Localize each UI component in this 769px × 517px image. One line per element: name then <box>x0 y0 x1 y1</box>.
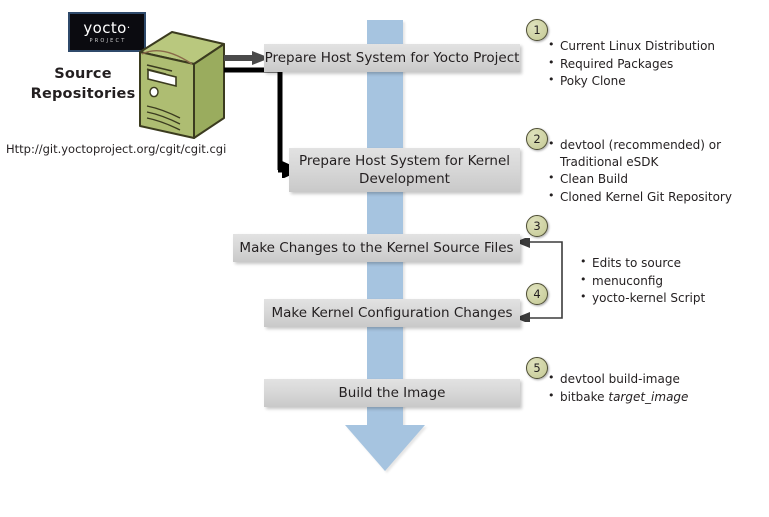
step2-bullet-list: devtool (recommended) or Traditional eSD… <box>548 137 763 206</box>
source-label-line-2: Repositories <box>20 84 146 104</box>
logo-word-text: yocto <box>83 19 126 37</box>
connector-bracket-step3-step4 <box>516 238 586 322</box>
step3-step4-bullet-list: Edits to source menuconfig yocto-kernel … <box>580 255 760 308</box>
step-box-1[interactable]: Prepare Host System for Yocto Project <box>264 44 520 72</box>
list-item: devtool build-image <box>548 371 748 388</box>
step1-bullet-list: Current Linux Distribution Required Pack… <box>548 38 758 91</box>
flow-arrow-head <box>345 425 425 471</box>
list-item: yocto-kernel Script <box>580 290 760 307</box>
repository-url-text: Http://git.yoctoproject.org/cgit/cgit.cg… <box>6 142 226 156</box>
list-item-emphasis: target_image <box>608 390 688 404</box>
list-item: Current Linux Distribution <box>548 38 758 55</box>
list-item: Cloned Kernel Git Repository <box>548 189 763 206</box>
flow-arrow-shaft <box>367 20 403 431</box>
list-item-text: devtool build-image <box>560 372 680 386</box>
step5-bullet-list: devtool build-image bitbake target_image <box>548 371 748 406</box>
step-number-2: 2 <box>526 128 548 150</box>
step-number-5: 5 <box>526 357 548 379</box>
step-box-4[interactable]: Make Kernel Configuration Changes <box>264 299 520 327</box>
step-box-5[interactable]: Build the Image <box>264 379 520 407</box>
source-label-line-1: Source <box>20 64 146 84</box>
source-repositories-label: Source Repositories <box>20 64 146 104</box>
list-item: Required Packages <box>548 56 758 73</box>
step-number-3: 3 <box>526 215 548 237</box>
step-box-2[interactable]: Prepare Host System for Kernel Developme… <box>289 148 520 192</box>
list-item-text: bitbake <box>560 390 608 404</box>
step-number-4: 4 <box>526 283 548 305</box>
list-item: Clean Build <box>548 171 763 188</box>
list-item: devtool (recommended) or Traditional eSD… <box>548 137 763 170</box>
list-item: Edits to source <box>580 255 760 272</box>
list-item: Poky Clone <box>548 73 758 90</box>
step-box-3[interactable]: Make Changes to the Kernel Source Files <box>233 234 520 262</box>
logo-dot: · <box>127 21 131 34</box>
list-item: menuconfig <box>580 273 760 290</box>
server-icon <box>132 30 228 142</box>
list-item: bitbake target_image <box>548 389 748 406</box>
step-number-1: 1 <box>526 19 548 41</box>
